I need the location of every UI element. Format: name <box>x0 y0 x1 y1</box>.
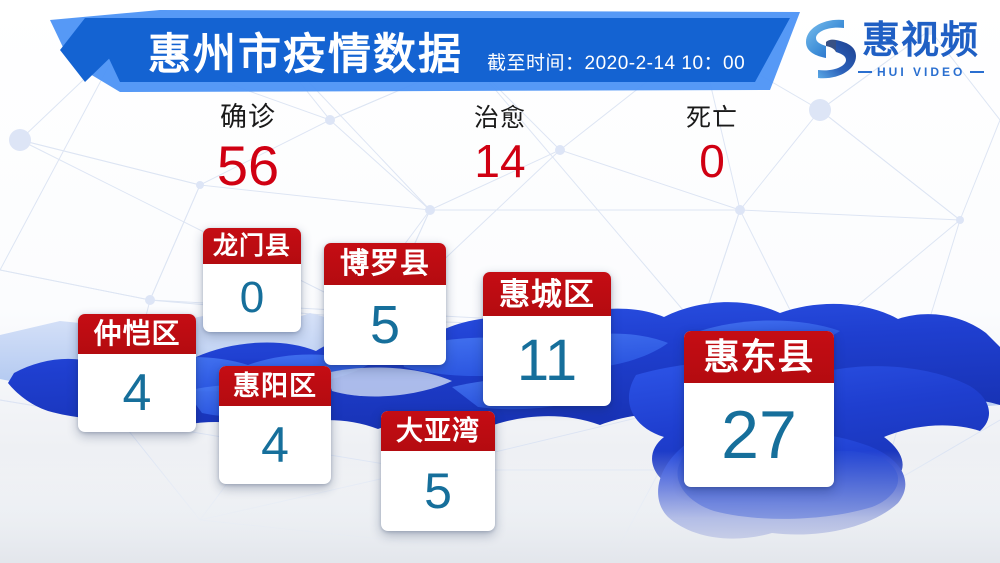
brand-logo[interactable]: 惠视频 HUI VIDEO <box>800 14 990 92</box>
stat-cured: 治愈 14 <box>420 106 580 185</box>
district-card-dayawan[interactable]: 大亚湾 5 <box>381 411 495 531</box>
stat-cured-label: 治愈 <box>420 106 580 131</box>
district-card-huicheng-name: 惠城区 <box>483 272 611 316</box>
stat-cured-value: 14 <box>420 137 580 185</box>
stat-deaths-value: 0 <box>632 137 792 185</box>
logo-name-en-text: HUI VIDEO <box>877 66 965 78</box>
infographic-root: 惠州市疫情数据 截至时间：2020-2-14 10：00 惠视频 <box>0 0 1000 563</box>
district-card-huiyang-name: 惠阳区 <box>219 366 331 406</box>
district-card-longmen-value: 0 <box>203 264 301 332</box>
timestamp-label: 截至时间：2020-2-14 10：00 <box>487 48 745 75</box>
district-card-huidong[interactable]: 惠东县 27 <box>684 331 834 487</box>
district-card-huidong-value: 27 <box>684 383 834 487</box>
stat-confirmed-value: 56 <box>168 137 328 196</box>
logo-rule-left <box>858 71 872 73</box>
district-card-boluo-value: 5 <box>324 285 446 365</box>
page-title: 惠州市疫情数据 <box>148 26 458 84</box>
district-card-zhongkai-value: 4 <box>78 354 196 432</box>
district-card-huicheng[interactable]: 惠城区 11 <box>483 272 611 406</box>
district-card-zhongkai-name: 仲恺区 <box>78 314 196 354</box>
district-card-boluo-name: 博罗县 <box>324 243 446 285</box>
summary-stats: 确诊 56 治愈 14 死亡 0 <box>0 104 1000 194</box>
stat-deaths-label: 死亡 <box>632 106 792 131</box>
stat-confirmed: 确诊 56 <box>168 104 328 196</box>
district-card-longmen[interactable]: 龙门县 0 <box>203 228 301 332</box>
swoosh-s-icon <box>800 14 862 84</box>
district-card-dayawan-value: 5 <box>381 451 495 531</box>
district-card-boluo[interactable]: 博罗县 5 <box>324 243 446 365</box>
stat-deaths: 死亡 0 <box>632 106 792 185</box>
logo-rule-right <box>970 71 984 73</box>
district-card-huiyang[interactable]: 惠阳区 4 <box>219 366 331 484</box>
logo-name-en: HUI VIDEO <box>858 66 984 78</box>
district-card-huicheng-value: 11 <box>483 316 611 406</box>
district-card-dayawan-name: 大亚湾 <box>381 411 495 451</box>
district-card-zhongkai[interactable]: 仲恺区 4 <box>78 314 196 432</box>
stat-confirmed-label: 确诊 <box>168 104 328 131</box>
district-card-huidong-name: 惠东县 <box>684 331 834 383</box>
logo-name-cn: 惠视频 <box>862 22 979 60</box>
district-card-longmen-name: 龙门县 <box>203 228 301 264</box>
district-card-huiyang-value: 4 <box>219 406 331 484</box>
